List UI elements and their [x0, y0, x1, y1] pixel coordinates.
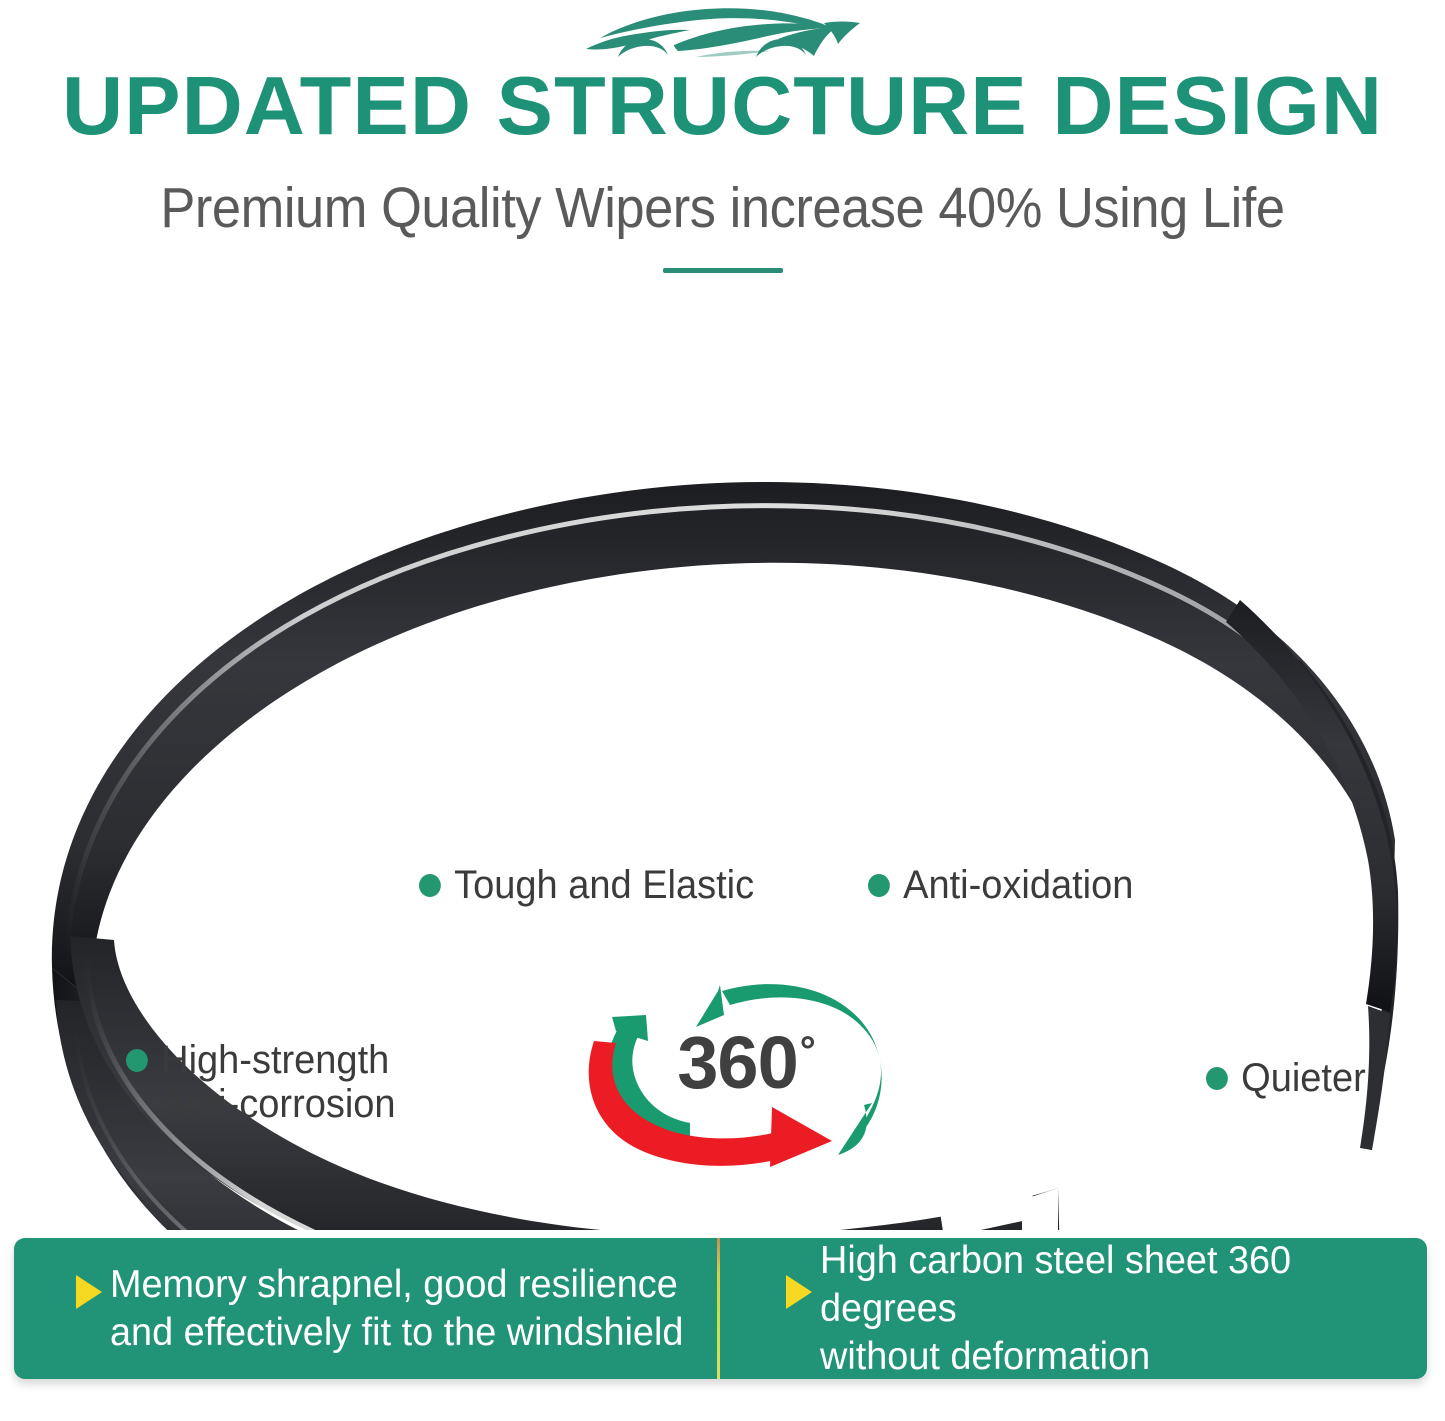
brand-logo	[0, 4, 1445, 62]
banner-item-text: Memory shrapnel, good resilience and eff…	[110, 1261, 683, 1357]
blade-notch-upper-a	[300, 762, 386, 824]
bullet-dot-icon	[126, 1049, 148, 1072]
badge-360: 360°	[572, 955, 912, 1170]
triangle-right-icon	[786, 1275, 812, 1309]
bullet-dot-icon	[1206, 1067, 1228, 1090]
bullet-dot-icon	[868, 874, 890, 897]
feature-label-text: Quieter	[1241, 1056, 1366, 1100]
badge-360-value: 360	[677, 1020, 797, 1105]
feature-label-text: High-strength Anti-corrosion	[161, 1038, 395, 1126]
blade-outer-strip	[52, 482, 1395, 1000]
banner-item-memory-shrapnel: Memory shrapnel, good resilience and eff…	[14, 1238, 718, 1379]
car-silhouette-icon	[578, 5, 868, 61]
hero-section: 360° Tough and Elastic Anti-oxidation Hi…	[0, 300, 1445, 1230]
banner-item-high-carbon-steel: High carbon steel sheet 360 degrees with…	[718, 1238, 1428, 1379]
feature-tough-and-elastic: Tough and Elastic	[419, 863, 754, 907]
banner-item-text: High carbon steel sheet 360 degrees with…	[820, 1238, 1409, 1379]
blade-notch-upper-b	[300, 842, 378, 900]
triangle-right-icon	[76, 1275, 102, 1309]
bottom-feature-banner: Memory shrapnel, good resilience and eff…	[14, 1238, 1427, 1379]
badge-360-label: 360°	[572, 955, 912, 1170]
feature-label-text: Anti-oxidation	[903, 863, 1133, 907]
feature-label-text: Tough and Elastic	[454, 863, 754, 907]
header-divider	[663, 268, 783, 273]
page-subtitle: Premium Quality Wipers increase 40% Usin…	[58, 176, 1387, 240]
feature-quieter: Quieter	[1206, 1056, 1366, 1100]
bullet-dot-icon	[419, 874, 441, 897]
feature-anti-oxidation: Anti-oxidation	[868, 863, 1133, 907]
page-title: UPDATED STRUCTURE DESIGN	[0, 62, 1445, 150]
feature-high-strength-anti-corrosion: High-strength Anti-corrosion	[126, 1038, 396, 1126]
